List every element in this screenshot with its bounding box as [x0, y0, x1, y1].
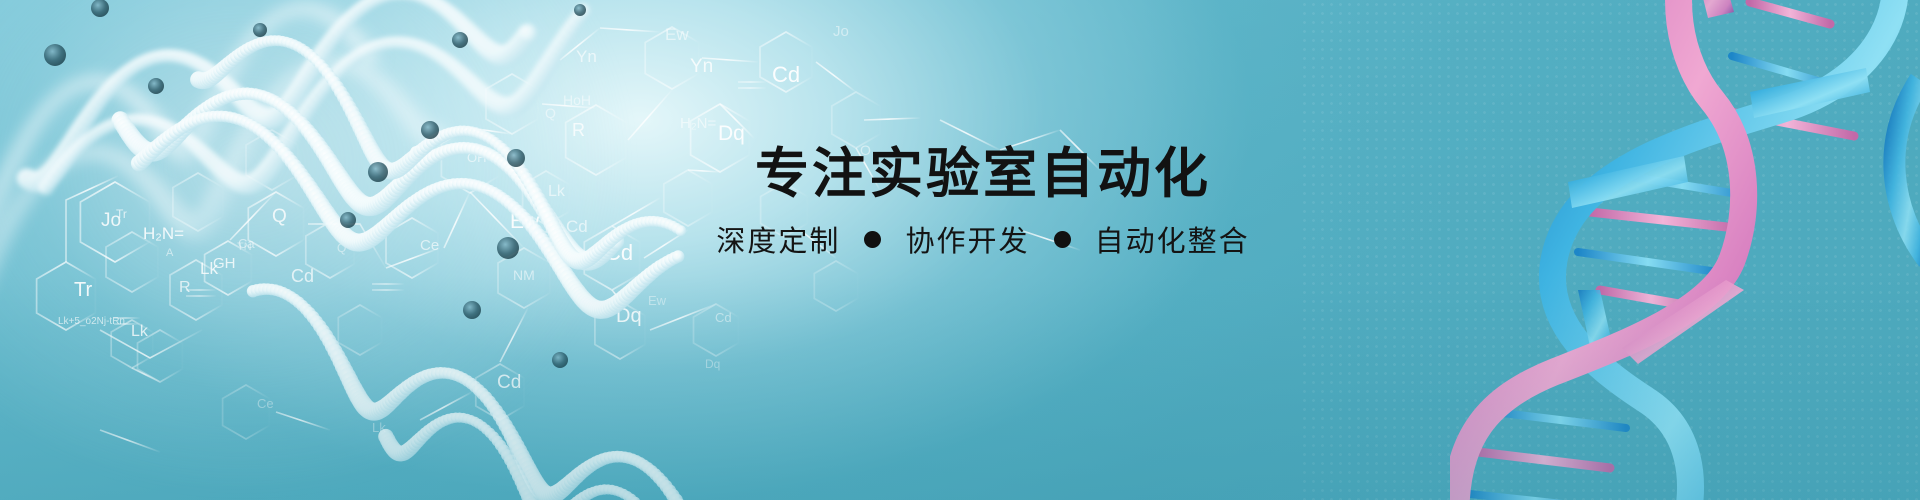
lab-automation-banner: CdYnEwJoHoHYnRDqH₂N=CdQLkEwCdJoTrH₂N=CaQ… — [0, 0, 1920, 500]
subtitle-segment-3: 自动化整合 — [1095, 223, 1250, 261]
bullet-separator-icon — [1054, 231, 1071, 248]
page-title: 专注实验室自动化 — [46, 142, 1920, 206]
subtitle-segment-1: 深度定制 — [716, 223, 840, 261]
banner-text-block: 专注实验室自动化 深度定制 协作开发 自动化整合 — [0, 142, 1920, 261]
subtitle-segment-2: 协作开发 — [905, 223, 1029, 261]
banner-subtitle: 深度定制 协作开发 自动化整合 — [46, 222, 1920, 261]
bullet-separator-icon — [864, 231, 881, 248]
